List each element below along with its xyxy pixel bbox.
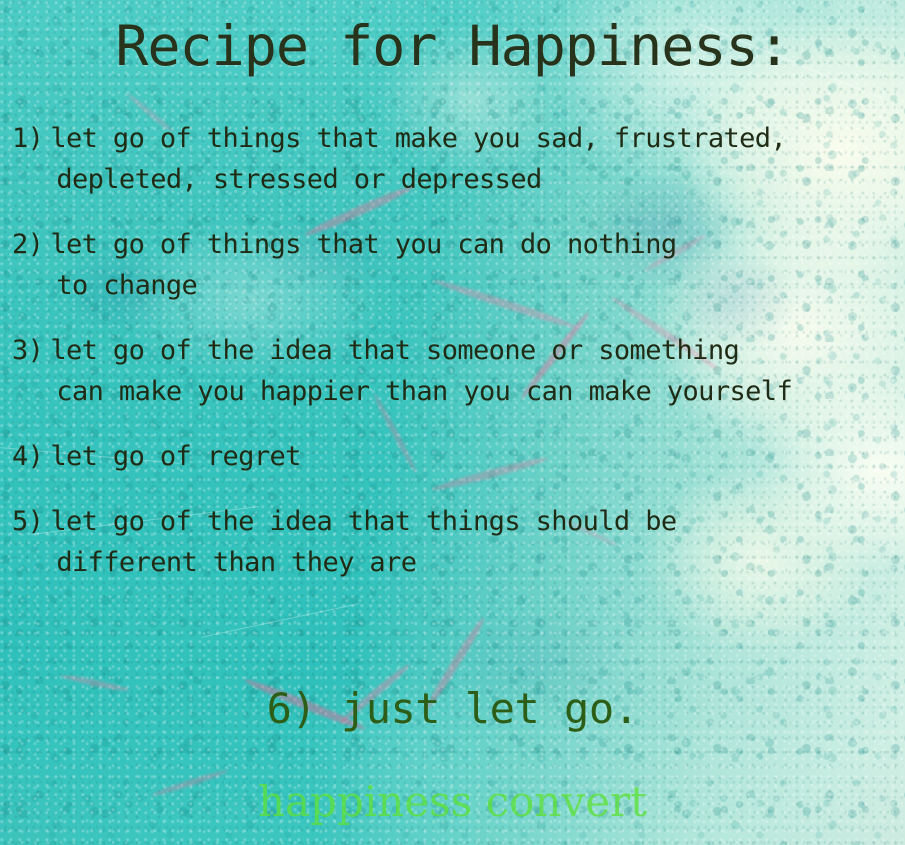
list-item-line: let go of things that make you sad, frus… [50, 118, 897, 159]
list-item: 3) let go of the idea that someone or so… [12, 330, 897, 412]
list-item-line: can make you happier than you can make y… [50, 371, 897, 412]
list-item-line: let go of the idea that someone or somet… [50, 330, 897, 371]
final-line: 6) just let go. [0, 683, 905, 735]
list-item-text: let go of things that make you sad, frus… [50, 118, 897, 200]
list-item-text: let go of things that you can do nothing… [50, 224, 897, 306]
list-item: 1) let go of things that make you sad, f… [12, 118, 897, 200]
list-item-line: let go of regret [50, 436, 897, 477]
list-item-marker: 2) [12, 224, 50, 265]
list-item-line: to change [50, 265, 897, 306]
watermark: happiness convert [0, 778, 905, 826]
list-item: 5) let go of the idea that things should… [12, 501, 897, 583]
list-item-text: let go of the idea that someone or somet… [50, 330, 897, 412]
list-item: 2) let go of things that you can do noth… [12, 224, 897, 306]
list-item-line: let go of the idea that things should be [50, 501, 897, 542]
list-item-marker: 3) [12, 330, 50, 371]
list-item: 4) let go of regret [12, 436, 897, 477]
list-item-marker: 4) [12, 436, 50, 477]
list-item-line: depleted, stressed or depressed [50, 159, 897, 200]
list-item-line: let go of things that you can do nothing [50, 224, 897, 265]
recipe-list: 1) let go of things that make you sad, f… [12, 118, 897, 607]
list-item-text: let go of regret [50, 436, 897, 477]
list-item-text: let go of the idea that things should be… [50, 501, 897, 583]
list-item-marker: 5) [12, 501, 50, 542]
list-item-marker: 1) [12, 118, 50, 159]
list-item-line: different than they are [50, 542, 897, 583]
page-title: Recipe for Happiness: [0, 14, 905, 78]
quote-poster: Recipe for Happiness: 1) let go of thing… [0, 0, 905, 845]
